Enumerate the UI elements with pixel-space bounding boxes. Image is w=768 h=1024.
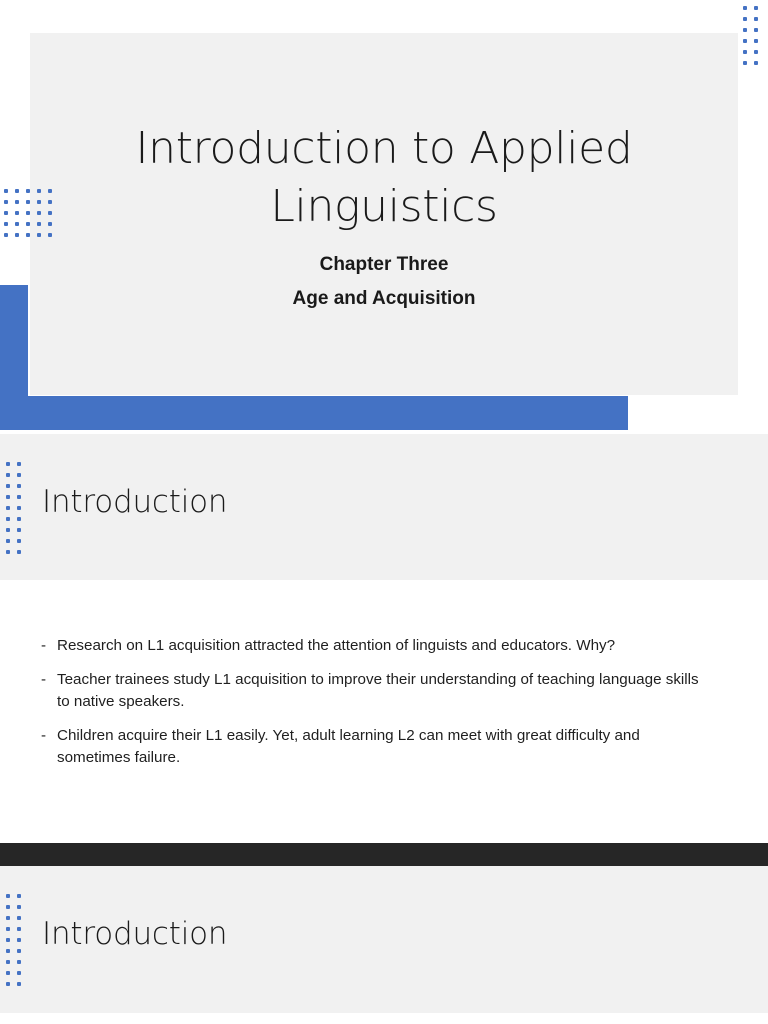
dot-icon (15, 925, 26, 936)
dot-icon (741, 26, 752, 37)
dot-icon (24, 231, 35, 242)
dot-icon (2, 231, 13, 242)
dot-icon (13, 231, 24, 242)
slide-body-area: - Research on L1 acquisition attracted t… (0, 580, 768, 843)
bullet-marker: - (41, 669, 46, 691)
dot-icon (752, 4, 763, 15)
dot-icon (24, 220, 35, 231)
title-text-block: Introduction to Applied Linguistics Chap… (60, 120, 708, 316)
bullet-marker: - (41, 635, 46, 657)
section-header-band: Introduction (0, 866, 768, 1013)
slide-introduction-content: Introduction - Research on L1 acquisitio… (0, 434, 768, 843)
dot-icon (741, 37, 752, 48)
dot-icon (4, 958, 15, 969)
dot-icon (15, 471, 26, 482)
dot-icon (752, 37, 763, 48)
dot-icon (15, 548, 26, 559)
dot-icon (24, 198, 35, 209)
dot-icon (46, 198, 57, 209)
dot-icon (15, 482, 26, 493)
slide-introduction-next: Introduction (0, 866, 768, 1024)
dot-icon (46, 209, 57, 220)
slide-divider (0, 843, 768, 866)
list-item-text: Children acquire their L1 easily. Yet, a… (57, 727, 640, 766)
dot-icon (15, 537, 26, 548)
dot-icon (15, 460, 26, 471)
dot-icon (35, 187, 46, 198)
subtitle-topic: Age and Acquisition (60, 282, 708, 316)
dot-icon (741, 4, 752, 15)
slide-deck: Introduction to Applied Linguistics Chap… (0, 0, 768, 1024)
dot-icon (4, 460, 15, 471)
list-item: - Children acquire their L1 easily. Yet,… (41, 725, 713, 769)
section-title: Introduction (42, 914, 227, 954)
dot-icon (15, 980, 26, 991)
dot-icon (4, 936, 15, 947)
dot-icon (13, 198, 24, 209)
dot-icon (46, 231, 57, 242)
dot-icon (24, 209, 35, 220)
dot-icon (24, 187, 35, 198)
list-item: - Teacher trainees study L1 acquisition … (41, 669, 713, 713)
dot-icon (35, 198, 46, 209)
accent-bar-horizontal (0, 396, 628, 430)
dot-icon (2, 220, 13, 231)
list-item: - Research on L1 acquisition attracted t… (41, 635, 713, 657)
section-title: Introduction (42, 482, 227, 522)
dot-icon (741, 59, 752, 70)
page-title: Introduction to Applied Linguistics (60, 120, 708, 236)
dot-grid-icon-header-left (4, 460, 26, 559)
dot-icon (2, 209, 13, 220)
dot-icon (4, 471, 15, 482)
dot-icon (4, 914, 15, 925)
dot-icon (4, 947, 15, 958)
dot-icon (2, 187, 13, 198)
dot-icon (15, 903, 26, 914)
dot-icon (741, 15, 752, 26)
dot-icon (4, 537, 15, 548)
subtitle-chapter: Chapter Three (60, 236, 708, 282)
dot-grid-icon-header-left (4, 892, 26, 991)
dot-icon (15, 493, 26, 504)
slide-title: Introduction to Applied Linguistics Chap… (0, 0, 768, 434)
list-item-text: Teacher trainees study L1 acquisition to… (57, 671, 699, 710)
dot-icon (15, 504, 26, 515)
dot-icon (752, 15, 763, 26)
dot-icon (4, 892, 15, 903)
dot-icon (15, 958, 26, 969)
dot-grid-icon-top-right (741, 4, 763, 70)
dot-icon (4, 969, 15, 980)
dot-icon (4, 482, 15, 493)
bullet-list: - Research on L1 acquisition attracted t… (41, 635, 713, 781)
dot-icon (752, 26, 763, 37)
dot-icon (13, 187, 24, 198)
dot-icon (4, 526, 15, 537)
dot-icon (15, 947, 26, 958)
dot-icon (15, 969, 26, 980)
dot-icon (4, 980, 15, 991)
dot-icon (35, 220, 46, 231)
dot-grid-icon-title-left (2, 187, 57, 242)
list-item-text: Research on L1 acquisition attracted the… (57, 637, 615, 654)
dot-icon (4, 493, 15, 504)
dot-icon (13, 209, 24, 220)
dot-icon (15, 515, 26, 526)
dot-icon (15, 936, 26, 947)
dot-icon (35, 231, 46, 242)
dot-icon (4, 515, 15, 526)
dot-icon (4, 903, 15, 914)
dot-icon (15, 526, 26, 537)
dot-icon (2, 198, 13, 209)
dot-icon (46, 187, 57, 198)
dot-icon (752, 59, 763, 70)
dot-icon (15, 892, 26, 903)
bullet-marker: - (41, 725, 46, 747)
dot-icon (752, 48, 763, 59)
dot-icon (35, 209, 46, 220)
section-header-band: Introduction (0, 434, 768, 580)
dot-icon (15, 914, 26, 925)
dot-icon (741, 48, 752, 59)
dot-icon (4, 504, 15, 515)
dot-icon (13, 220, 24, 231)
dot-icon (4, 925, 15, 936)
dot-icon (4, 548, 15, 559)
dot-icon (46, 220, 57, 231)
